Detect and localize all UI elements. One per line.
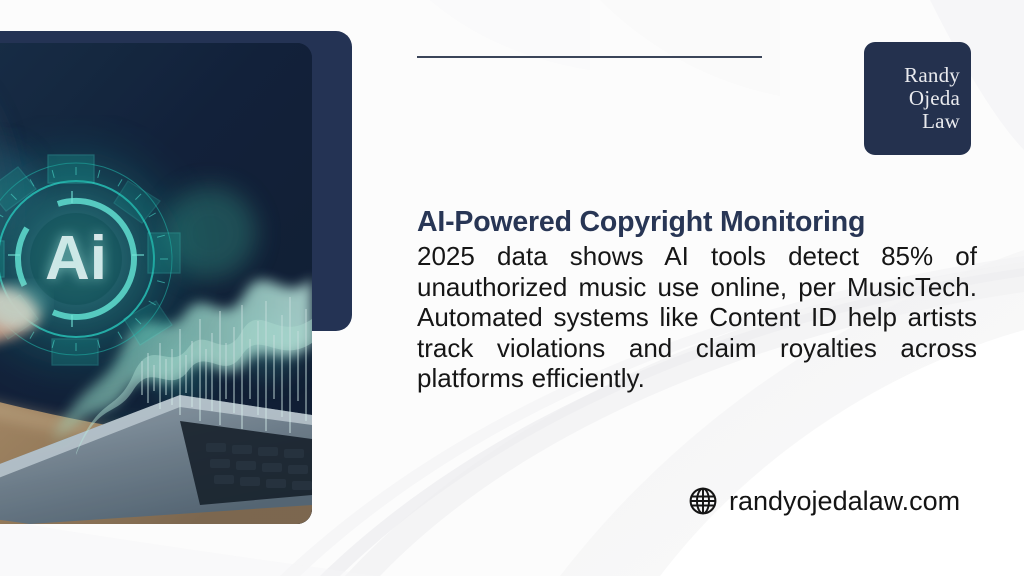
logo-line-3: Law [922,110,960,133]
slide-canvas: Ai Ai Randy Ojeda Law AI-P [0,0,1024,576]
body-paragraph: 2025 data shows AI tools detect 85% of u… [417,241,977,394]
website-url-text: randyojedalaw.com [729,486,960,516]
website-link[interactable]: randyojedalaw.com [688,483,960,519]
logo-line-1: Randy [904,64,960,87]
brand-logo[interactable]: Randy Ojeda Law [864,42,971,155]
page-title: AI-Powered Copyright Monitoring [417,205,977,239]
media-group: Ai Ai [0,31,380,531]
header-divider-line [417,56,762,58]
hero-photo-card: Ai Ai [0,43,312,524]
globe-icon [688,486,718,516]
logo-line-2: Ojeda [909,87,960,110]
hero-photo-illustration: Ai Ai [0,43,312,524]
copy-block: AI-Powered Copyright Monitoring 2025 dat… [417,205,977,394]
